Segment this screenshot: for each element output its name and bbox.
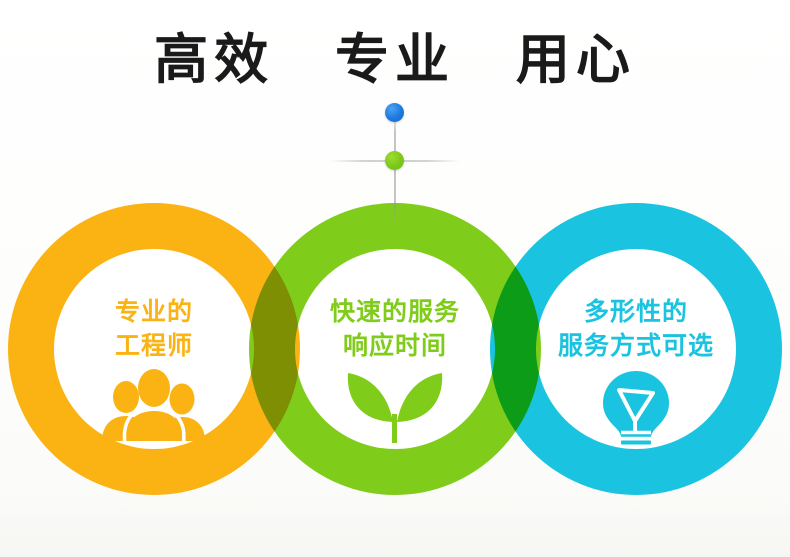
feature-line-2: 工程师 — [115, 329, 193, 363]
feature-line-1: 快速的服务 — [330, 295, 460, 329]
feature-card-response-time[interactable]: 快速的服务 响应时间 — [295, 249, 495, 449]
feature-card-service-options[interactable]: 多形性的 服务方式可选 — [536, 249, 736, 449]
feature-text-engineers: 专业的 工程师 — [115, 295, 193, 363]
feature-card-engineers[interactable]: 专业的 工程师 — [54, 249, 254, 449]
headline-word-1: 高效 — [154, 30, 274, 90]
lightbulb-icon — [590, 369, 682, 449]
feature-text-service-options: 多形性的 服务方式可选 — [558, 295, 714, 363]
feature-line-2: 响应时间 — [330, 329, 460, 363]
feature-line-1: 多形性的 — [558, 295, 714, 329]
headline-word-2: 专业 — [335, 30, 455, 90]
headline-word-3: 用心 — [516, 30, 636, 90]
connector-blue-dot-icon — [385, 103, 404, 122]
feature-line-2: 服务方式可选 — [558, 329, 714, 363]
people-team-icon — [98, 369, 210, 441]
sprout-leaf-icon — [336, 369, 454, 443]
connector-green-dot-icon — [385, 151, 404, 170]
feature-text-response-time: 快速的服务 响应时间 — [330, 295, 460, 363]
infographic-canvas: 高效 专业 用心 专业的 工程师 — [0, 0, 790, 557]
feature-line-1: 专业的 — [115, 295, 193, 329]
page-title: 高效 专业 用心 — [0, 30, 790, 90]
